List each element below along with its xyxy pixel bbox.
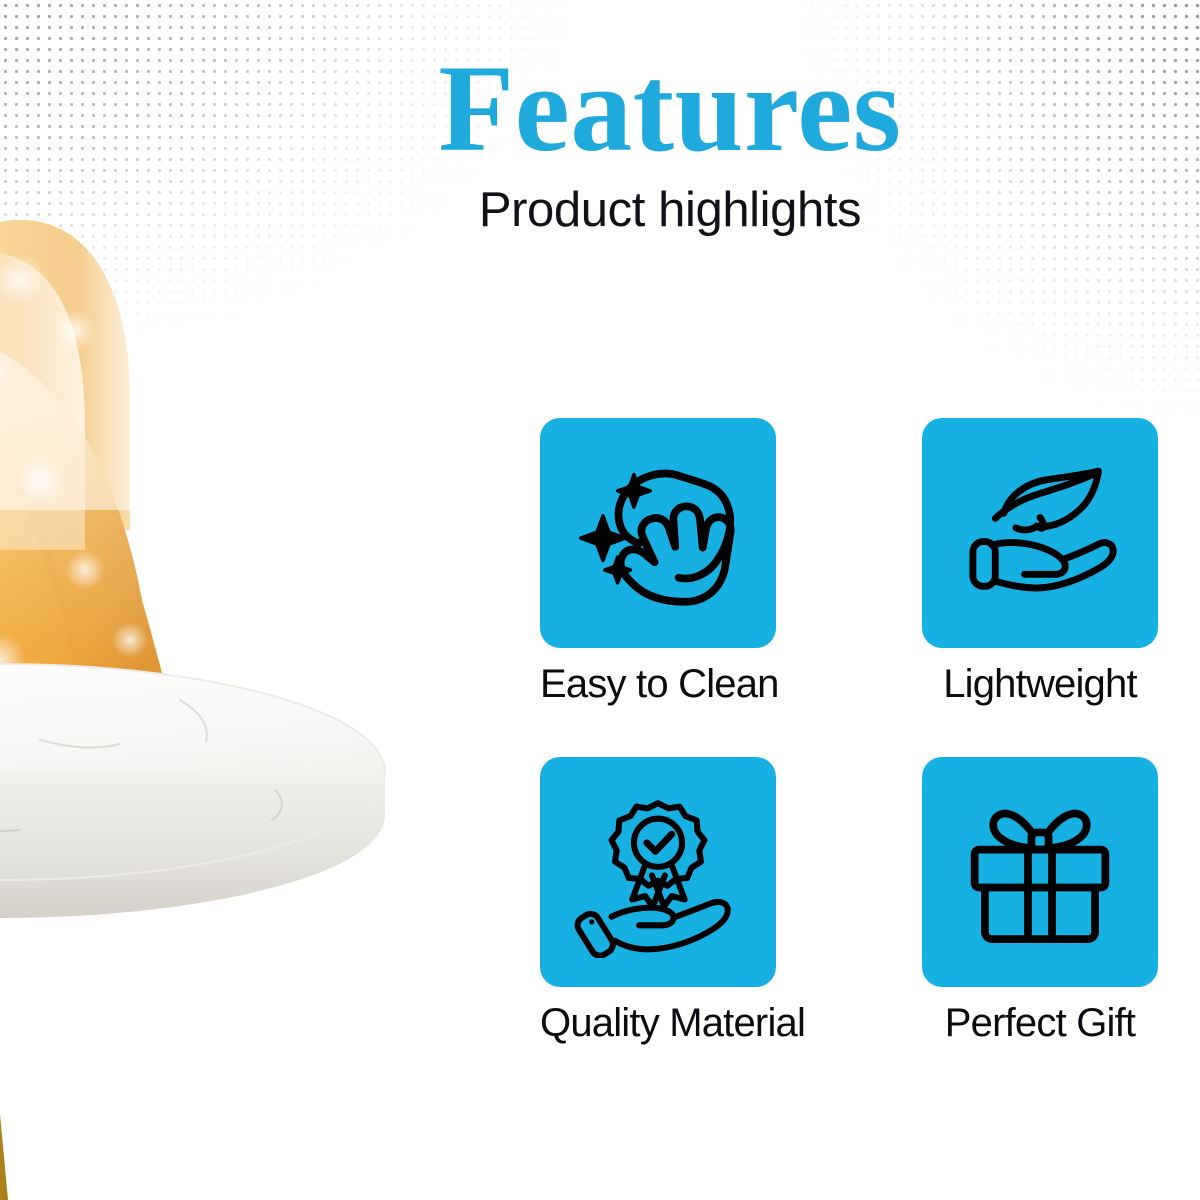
award-rosette-on-hand-icon (572, 786, 744, 958)
marble-cake-stand-plate (0, 664, 385, 918)
feature-label-easy-to-clean: Easy to Clean (540, 662, 776, 706)
feature-label-lightweight: Lightweight (922, 662, 1158, 706)
gold-pedestal-base (0, 893, 8, 1200)
feature-tile-easy-to-clean[interactable] (540, 418, 776, 648)
feature-tile-perfect-gift[interactable] (922, 757, 1158, 987)
feature-grid: Easy to Clean Lightweight (540, 418, 1160, 1045)
hand-wiping-cloth-sparkle-icon (572, 447, 744, 619)
page-title: Features (230, 46, 1110, 172)
feature-item-quality-material[interactable]: Quality Material (540, 757, 776, 1045)
page-subtitle: Product highlights (230, 182, 1110, 238)
feature-label-perfect-gift: Perfect Gift (922, 1001, 1158, 1045)
header: Features Product highlights (230, 46, 1110, 238)
product-photo-cake-stand (0, 100, 520, 1200)
gift-box-with-bow-icon (954, 786, 1126, 958)
feature-item-perfect-gift[interactable]: Perfect Gift (922, 757, 1158, 1045)
feature-item-lightweight[interactable]: Lightweight (922, 418, 1158, 706)
feature-tile-quality-material[interactable] (540, 757, 776, 987)
feature-highlight-banner: Easy to Clean Lightweight (0, 0, 1200, 1200)
feature-item-easy-to-clean[interactable]: Easy to Clean (540, 418, 776, 706)
feature-label-quality-material: Quality Material (540, 1001, 776, 1045)
feature-tile-lightweight[interactable] (922, 418, 1158, 648)
feather-over-open-hand-icon (954, 447, 1126, 619)
